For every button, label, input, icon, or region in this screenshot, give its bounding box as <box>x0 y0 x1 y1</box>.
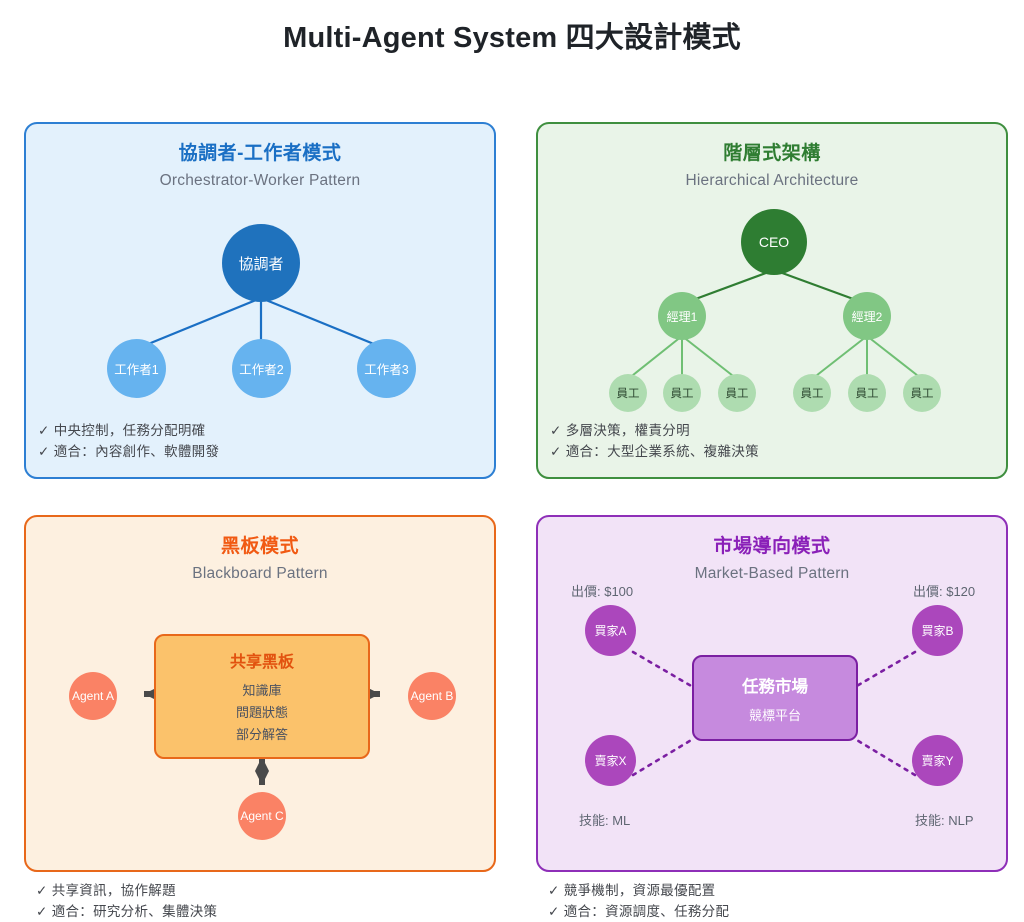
node-label: Agent B <box>411 689 454 703</box>
node-worker-1[interactable]: 工作者1 <box>107 339 166 398</box>
node-label: 經理1 <box>667 308 698 325</box>
node-agent-b[interactable]: Agent B <box>408 672 456 720</box>
page-title: Multi-Agent System 四大設計模式 <box>0 0 1024 44</box>
bullet-text: 適合：大型企業系統、複雜決策 <box>566 444 759 459</box>
node-label: 員工 <box>801 385 824 401</box>
seller-x-skill-label: 技能: ML <box>579 810 630 829</box>
check-icon: ✓ <box>38 444 50 459</box>
card-bullets-market: ✓ 競爭機制，資源最優配置 ✓ 適合：資源調度、任務分配 <box>548 880 729 922</box>
node-staff-6[interactable]: 員工 <box>903 374 941 412</box>
seller-y-skill-label: 技能: NLP <box>915 810 974 829</box>
card-blackboard: 黑板模式 Blackboard Pattern 共享黑板 知識庫 問題 <box>24 515 496 872</box>
bullet-text: 共享資訊，協作解題 <box>52 883 176 898</box>
node-label: 賣家X <box>594 752 626 769</box>
node-label: CEO <box>759 234 789 250</box>
node-seller-y[interactable]: 賣家Y <box>912 735 963 786</box>
bullet-item: ✓ 適合：大型企業系統、複雜決策 <box>550 441 759 462</box>
node-agent-c[interactable]: Agent C <box>238 792 286 840</box>
blackboard-line: 問題狀態 <box>236 702 288 724</box>
node-label: 賣家Y <box>921 752 953 769</box>
node-label: 買家B <box>921 622 953 639</box>
blackboard-title: 共享黑板 <box>230 648 294 672</box>
node-label: 員工 <box>671 385 694 401</box>
node-label: 協調者 <box>238 253 283 274</box>
buyer-b-bid-label: 出價: $120 <box>913 581 975 600</box>
bullet-item: ✓ 適合：內容創作、軟體開發 <box>38 441 219 462</box>
node-label: 工作者3 <box>364 359 408 378</box>
node-buyer-a[interactable]: 買家A <box>585 605 636 656</box>
check-icon: ✓ <box>36 904 48 919</box>
node-label: 員工 <box>726 385 749 401</box>
bullet-text: 適合：資源調度、任務分配 <box>564 904 730 919</box>
node-worker-3[interactable]: 工作者3 <box>357 339 416 398</box>
shared-blackboard[interactable]: 共享黑板 知識庫 問題狀態 部分解答 <box>154 634 370 759</box>
check-icon: ✓ <box>550 423 562 438</box>
card-orchestrator-worker: 協調者-工作者模式 Orchestrator-Worker Pattern 協調… <box>24 122 496 479</box>
check-icon: ✓ <box>38 423 50 438</box>
node-staff-2[interactable]: 員工 <box>663 374 701 412</box>
buyer-a-bid-label: 出價: $100 <box>571 581 633 600</box>
bullet-item: ✓ 中央控制，任務分配明確 <box>38 420 219 441</box>
node-label: 工作者1 <box>114 359 158 378</box>
bullet-item: ✓ 共享資訊，協作解題 <box>36 880 217 901</box>
market-subtitle: 競標平台 <box>749 705 801 724</box>
node-manager-1[interactable]: 經理1 <box>658 292 706 340</box>
node-manager-2[interactable]: 經理2 <box>843 292 891 340</box>
card-hierarchical: 階層式架構 Hierarchical Architecture CEO 經理1 … <box>536 122 1008 479</box>
node-label: 員工 <box>617 385 640 401</box>
bullet-text: 多層決策，權責分明 <box>566 423 690 438</box>
node-ceo[interactable]: CEO <box>741 209 807 275</box>
card-market-based: 市場導向模式 Market-Based Pattern 任務市場 競標平台 出價… <box>536 515 1008 872</box>
node-label: 買家A <box>594 622 626 639</box>
market-title: 任務市場 <box>742 673 808 697</box>
bullet-item: ✓ 適合：研究分析、集體決策 <box>36 901 217 922</box>
node-label: Agent C <box>240 809 283 823</box>
node-label: 員工 <box>911 385 934 401</box>
node-label: Agent A <box>72 689 114 703</box>
card-bullets: ✓ 中央控制，任務分配明確 ✓ 適合：內容創作、軟體開發 <box>38 420 219 462</box>
node-label: 工作者2 <box>239 359 283 378</box>
bullet-item: ✓ 多層決策，權責分明 <box>550 420 759 441</box>
node-buyer-b[interactable]: 買家B <box>912 605 963 656</box>
bullet-item: ✓ 競爭機制，資源最優配置 <box>548 880 729 901</box>
bullet-text: 適合：研究分析、集體決策 <box>52 904 218 919</box>
node-seller-x[interactable]: 賣家X <box>585 735 636 786</box>
blackboard-line: 知識庫 <box>242 680 281 702</box>
node-worker-2[interactable]: 工作者2 <box>232 339 291 398</box>
arrow-bottom <box>255 757 269 785</box>
check-icon: ✓ <box>550 444 562 459</box>
check-icon: ✓ <box>36 883 48 898</box>
node-staff-3[interactable]: 員工 <box>718 374 756 412</box>
check-icon: ✓ <box>548 904 560 919</box>
bullet-text: 競爭機制，資源最優配置 <box>564 883 716 898</box>
node-staff-1[interactable]: 員工 <box>609 374 647 412</box>
bullet-text: 適合：內容創作、軟體開發 <box>54 444 220 459</box>
node-agent-a[interactable]: Agent A <box>69 672 117 720</box>
node-label: 員工 <box>856 385 879 401</box>
card-bullets: ✓ 多層決策，權責分明 ✓ 適合：大型企業系統、複雜決策 <box>550 420 759 462</box>
node-staff-5[interactable]: 員工 <box>848 374 886 412</box>
bullet-item: ✓ 適合：資源調度、任務分配 <box>548 901 729 922</box>
blackboard-line: 部分解答 <box>236 724 288 746</box>
pattern-grid: 協調者-工作者模式 Orchestrator-Worker Pattern 協調… <box>0 44 1024 854</box>
node-staff-4[interactable]: 員工 <box>793 374 831 412</box>
bullet-text: 中央控制，任務分配明確 <box>54 423 206 438</box>
check-icon: ✓ <box>548 883 560 898</box>
card-bullets-blackboard: ✓ 共享資訊，協作解題 ✓ 適合：研究分析、集體決策 <box>36 880 217 922</box>
node-label: 經理2 <box>852 308 883 325</box>
task-market-box[interactable]: 任務市場 競標平台 <box>692 655 858 741</box>
node-orchestrator[interactable]: 協調者 <box>222 224 300 302</box>
